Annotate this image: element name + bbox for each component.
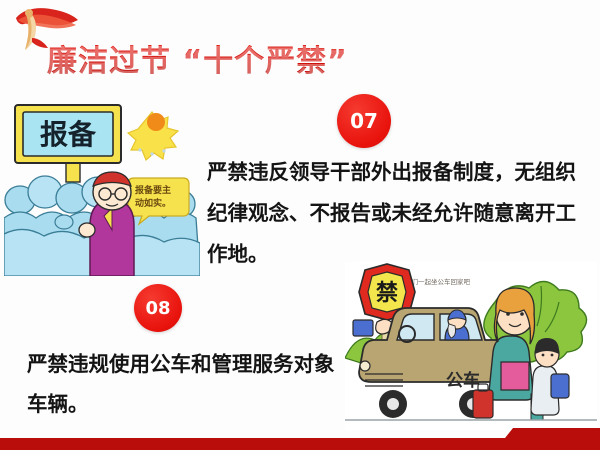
page-title: 廉洁过节 “十个严禁” bbox=[47, 36, 348, 80]
item-number-badge-08: 08 bbox=[134, 284, 182, 332]
sign-label: 禁 bbox=[376, 280, 398, 306]
bottom-red-ribbon bbox=[0, 428, 600, 450]
item-number-badge-07: 07 bbox=[337, 94, 391, 148]
handwriting-note: 我们一起坐公车回家吧 bbox=[405, 277, 471, 286]
poster-canvas: 廉洁过节 “十个严禁” 报备 bbox=[0, 0, 600, 450]
official-car-illustration: 我们一起坐公车回家吧 禁 bbox=[345, 262, 597, 430]
item-text-07: 严禁违反领导干部外出报备制度，无组织纪律观念、不报告或未经允许随意离开工作地。 bbox=[207, 152, 589, 275]
report-board-illustration: 报备 报备要主 动如实。 bbox=[4, 88, 200, 276]
item-text-08: 严禁违规使用公车和管理服务对象车辆。 bbox=[27, 344, 347, 424]
car-label: 公车 bbox=[446, 370, 480, 391]
svg-text:报备要主: 报备要主 bbox=[135, 184, 171, 196]
svg-text:动如实。: 动如实。 bbox=[135, 197, 171, 209]
board-label: 报备 bbox=[40, 118, 97, 151]
